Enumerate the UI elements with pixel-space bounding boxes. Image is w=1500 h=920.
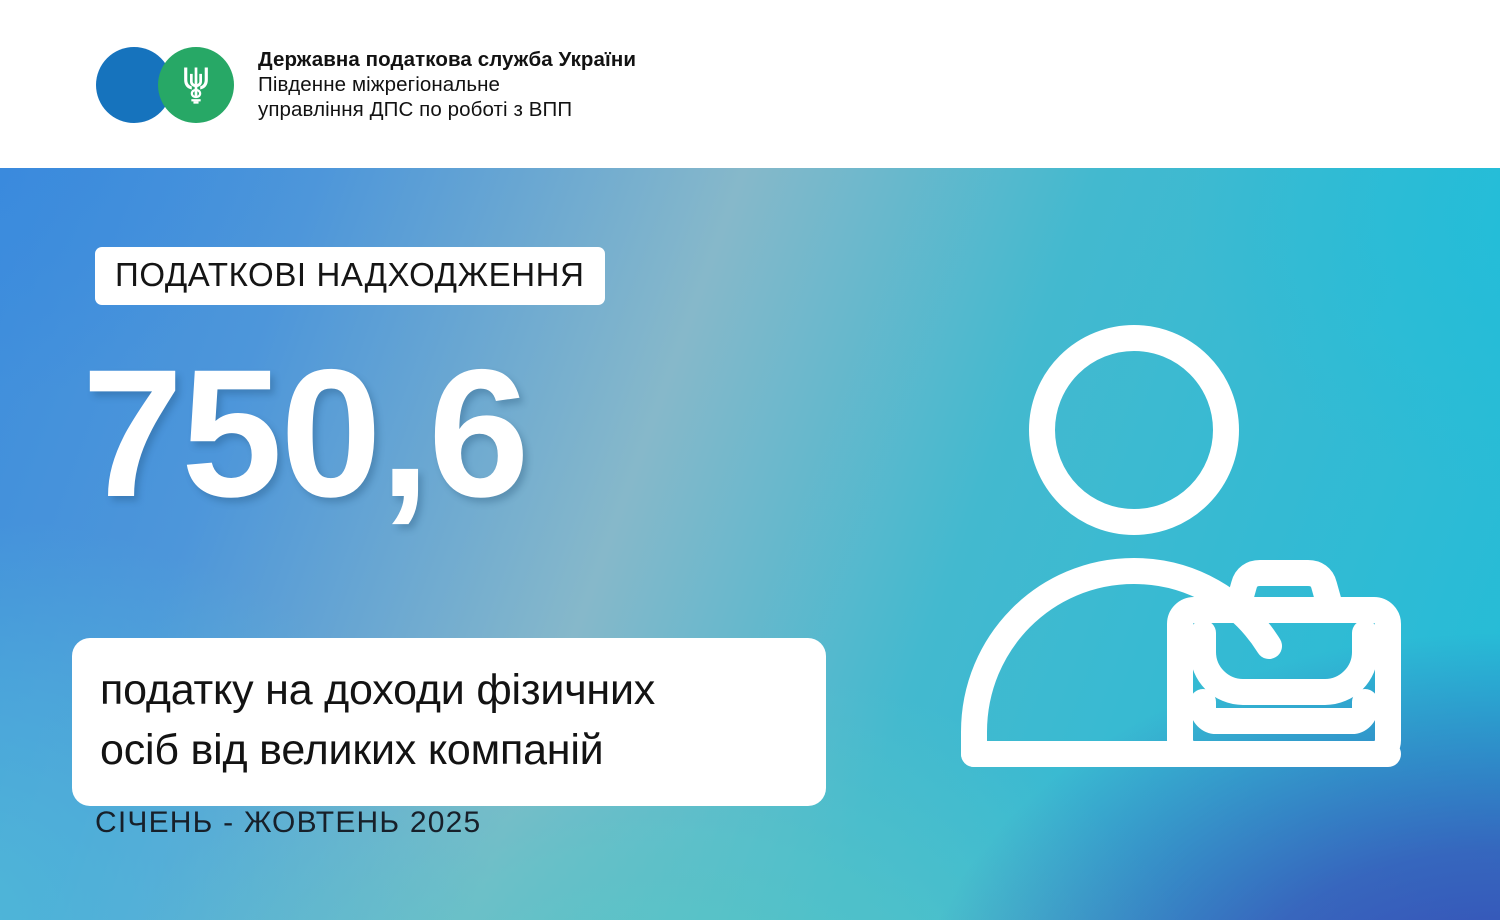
logo-green-circle-icon	[158, 47, 234, 123]
person-with-briefcase-icon	[952, 320, 1412, 780]
agency-name-line-1: Державна податкова служба України	[258, 47, 636, 72]
agency-name-line-3: управління ДПС по роботі з ВПП	[258, 97, 636, 122]
headline-value: 750,6	[82, 342, 527, 524]
description-line-2: осіб від великих компаній	[100, 720, 798, 780]
agency-name-line-2: Південне міжрегіональне	[258, 72, 636, 97]
kicker-badge: ПОДАТКОВІ НАДХОДЖЕННЯ	[95, 247, 605, 305]
infographic-poster: Державна податкова служба України Півден…	[0, 0, 1500, 920]
agency-logo	[96, 47, 236, 123]
header-bar: Державна податкова служба України Півден…	[0, 0, 1500, 168]
agency-name-block: Державна податкова служба України Півден…	[258, 47, 636, 122]
ukraine-trident-icon	[181, 66, 211, 105]
stage-content: ПОДАТКОВІ НАДХОДЖЕННЯ 750,6 млн грн пода…	[0, 168, 1500, 920]
description-line-1: податку на доходи фізичних	[100, 660, 798, 720]
gradient-background: ПОДАТКОВІ НАДХОДЖЕННЯ 750,6 млн грн пода…	[0, 168, 1500, 920]
period-label: СІЧЕНЬ - ЖОВТЕНЬ 2025	[95, 805, 481, 841]
description-card: податку на доходи фізичних осіб від вели…	[72, 638, 826, 806]
